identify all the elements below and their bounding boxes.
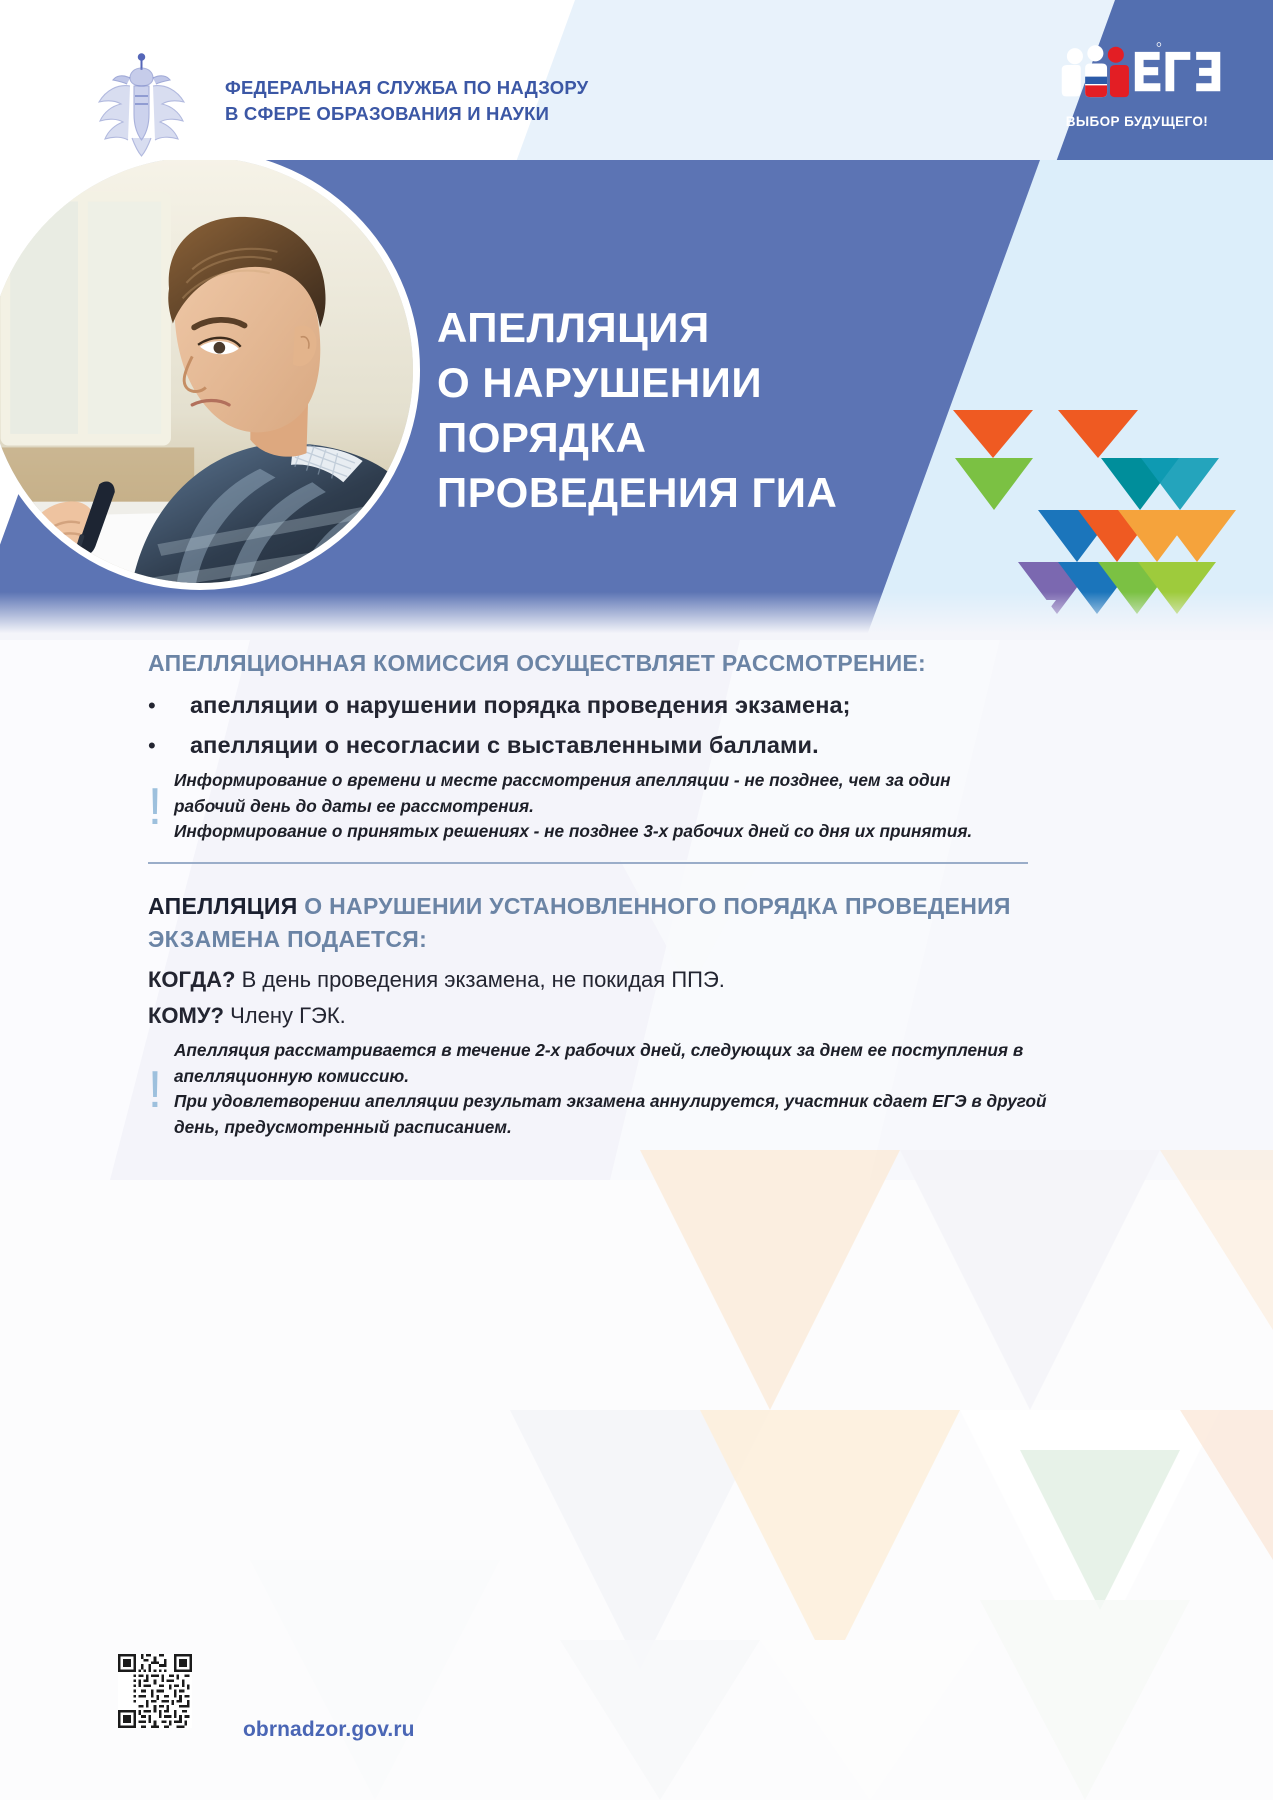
list-item-label: апелляции о нарушении порядка проведения… xyxy=(190,692,851,719)
note-line: рабочий день до даты ее рассмотрения. xyxy=(174,794,972,820)
note-line: При удовлетворении апелляции результат э… xyxy=(174,1089,1047,1115)
website-url-link[interactable]: obrnadzor.gov.ru xyxy=(243,1718,415,1742)
poster-root: ФЕДЕРАЛЬНАЯ СЛУЖБА ПО НАДЗОРУ В СФЕРЕ ОБ… xyxy=(0,0,1273,1800)
qa-question: КОМУ? xyxy=(148,1003,224,1028)
note-line: Информирование о принятых решениях - не … xyxy=(174,819,972,845)
list-item: • апелляции о несогласии с выставленными… xyxy=(148,732,851,759)
agency-name: ФЕДЕРАЛЬНАЯ СЛУЖБА ПО НАДЗОРУ В СФЕРЕ ОБ… xyxy=(225,75,588,127)
section1-bullet-list: • апелляции о нарушении порядка проведен… xyxy=(148,692,851,772)
section1-note-body: Информирование о времени и месте рассмот… xyxy=(174,768,972,845)
exclamation-icon: ! xyxy=(140,781,170,833)
page-title-line4: ПРОВЕДЕНИЯ ГИА xyxy=(437,465,837,520)
qa-answer: Члену ГЭК. xyxy=(224,1003,346,1028)
agency-name-line1: ФЕДЕРАЛЬНАЯ СЛУЖБА ПО НАДЗОРУ xyxy=(225,75,588,101)
section2-qa-list: КОГДА? В день проведения экзамена, не по… xyxy=(148,962,725,1034)
ege-tagline: ВЫБОР БУДУЩЕГО! xyxy=(1053,114,1221,129)
qa-row: КОГДА? В день проведения экзамена, не по… xyxy=(148,962,725,998)
note-line: Информирование о времени и месте рассмот… xyxy=(174,768,972,794)
qa-question: КОГДА? xyxy=(148,967,235,992)
section2-heading: АПЕЛЛЯЦИЯ О НАРУШЕНИИ УСТАНОВЛЕННОГО ПОР… xyxy=(148,890,1048,956)
section-divider xyxy=(148,862,1028,864)
list-item-label: апелляции о несогласии с выставленными б… xyxy=(190,732,819,759)
ege-logo: ВЫБОР БУДУЩЕГО! xyxy=(1053,40,1221,129)
page-footer: obrnadzor.gov.ru xyxy=(0,1600,1273,1800)
list-item: • апелляции о нарушении порядка проведен… xyxy=(148,692,851,719)
page-header: ФЕДЕРАЛЬНАЯ СЛУЖБА ПО НАДЗОРУ В СФЕРЕ ОБ… xyxy=(0,0,1273,160)
note-line: день, предусмотренный расписанием. xyxy=(174,1115,1047,1141)
section1-note: ! Информирование о времени и месте рассм… xyxy=(140,768,972,845)
page-title-line2: О НАРУШЕНИИ xyxy=(437,355,837,410)
page-title: АПЕЛЛЯЦИЯ О НАРУШЕНИИ ПОРЯДКА ПРОВЕДЕНИЯ… xyxy=(437,300,837,520)
bullet-dot-icon: • xyxy=(148,735,190,757)
page-title-line3: ПОРЯДКА xyxy=(437,410,837,465)
hero-bottom-fade xyxy=(0,592,1273,640)
qa-row: КОМУ? Члену ГЭК. xyxy=(148,998,725,1034)
note-line: апелляционную комиссию. xyxy=(174,1064,1047,1090)
section2-note: ! Апелляция рассматривается в течение 2-… xyxy=(140,1038,1047,1140)
exclamation-icon: ! xyxy=(140,1064,170,1116)
agency-name-line2: В СФЕРЕ ОБРАЗОВАНИЯ И НАУКИ xyxy=(225,101,588,127)
page-title-line1: АПЕЛЛЯЦИЯ xyxy=(437,300,837,355)
bullet-dot-icon: • xyxy=(148,695,190,717)
qa-answer: В день проведения экзамена, не покидая П… xyxy=(235,967,724,992)
hero-banner: АПЕЛЛЯЦИЯ О НАРУШЕНИИ ПОРЯДКА ПРОВЕДЕНИЯ… xyxy=(0,160,1273,640)
double-headed-eagle-emblem-icon xyxy=(94,52,189,157)
note-line: Апелляция рассматривается в течение 2-х … xyxy=(174,1038,1047,1064)
section2-heading-strong: АПЕЛЛЯЦИЯ xyxy=(148,893,298,919)
section2-note-body: Апелляция рассматривается в течение 2-х … xyxy=(174,1038,1047,1140)
section1-heading: АПЕЛЛЯЦИОННАЯ КОМИССИЯ ОСУЩЕСТВЛЯЕТ РАСС… xyxy=(148,650,926,677)
qr-code-icon[interactable] xyxy=(118,1654,192,1728)
